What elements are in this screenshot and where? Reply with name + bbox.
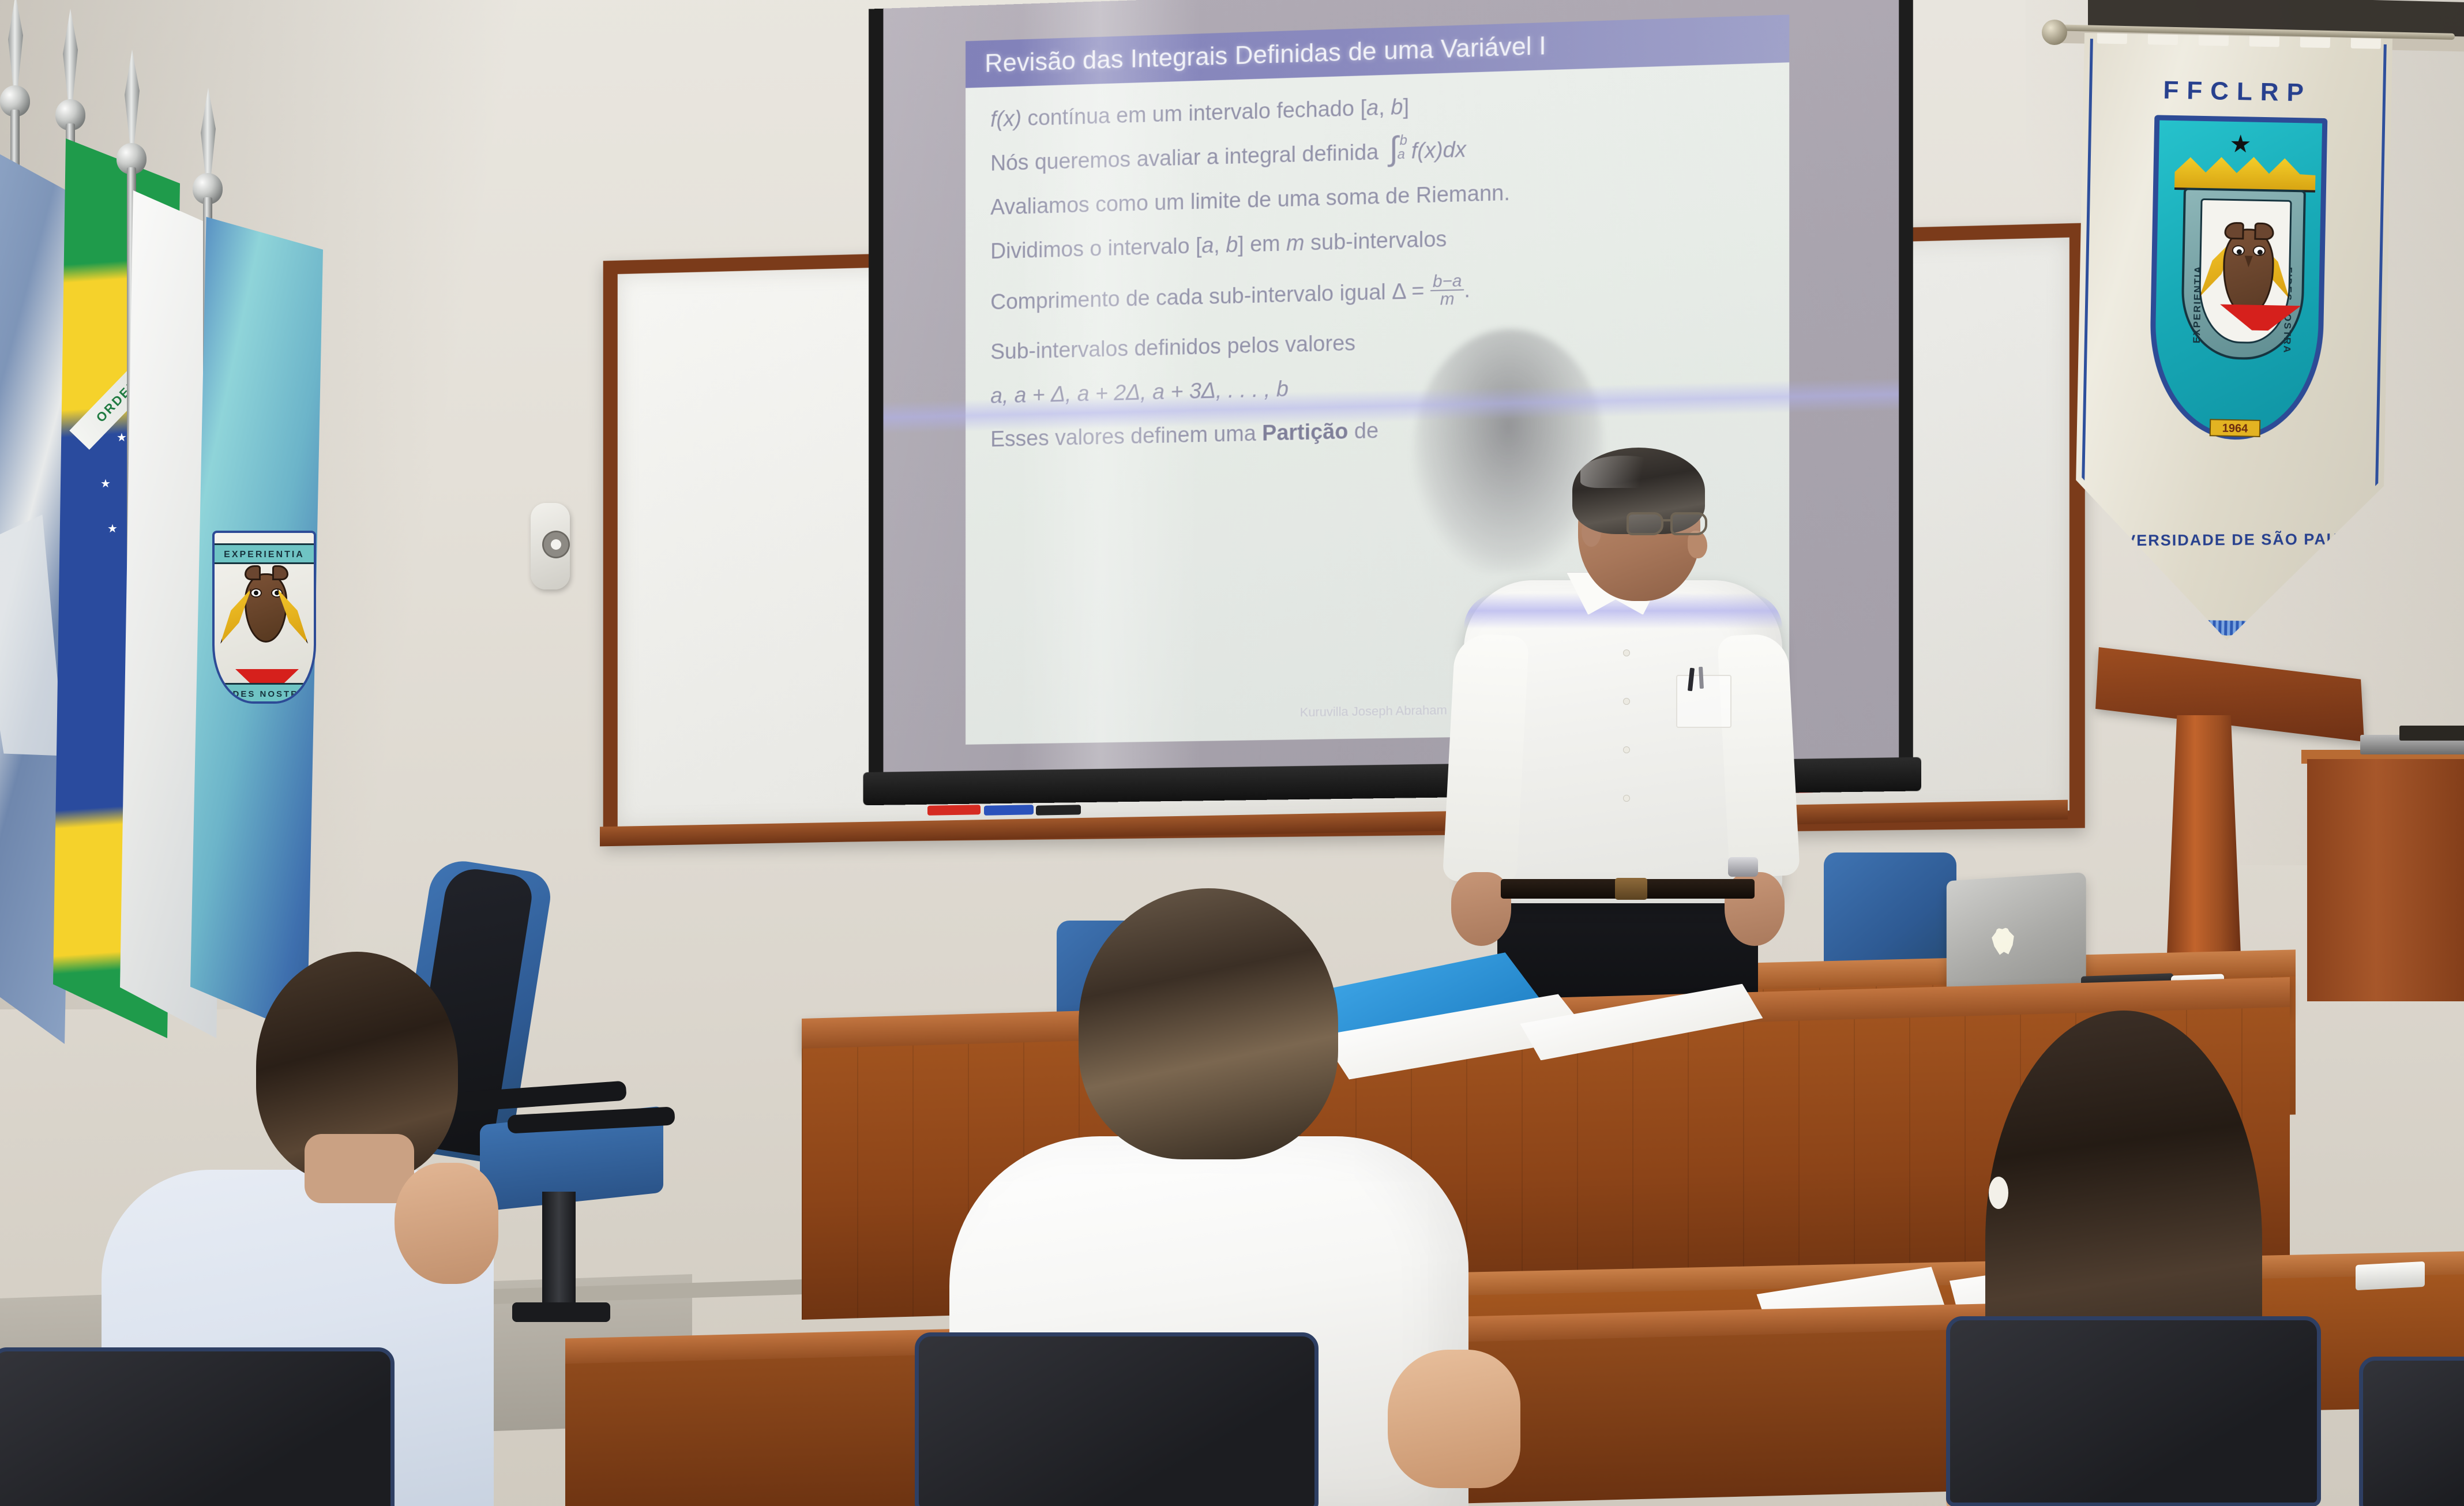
student-left-hand — [395, 1163, 498, 1284]
office-chair-base — [512, 1302, 610, 1322]
chair-front-center[interactable] — [915, 1332, 1319, 1506]
spear-finial-icon-3 — [125, 50, 140, 148]
slide-l4-e: ] em — [1238, 232, 1286, 257]
lecture-hall-scene: ORDEM E PROGRESSO ★ ★ ★ ★ ★ ★ ★ — [0, 0, 2464, 1506]
spear-finial-icon-2 — [63, 9, 78, 107]
crest-shield: EXPERIENTIA FIDES NOSTRA — [2180, 187, 2306, 360]
slide-line-6: Sub-intervalos definidos pelos valores — [990, 322, 1769, 363]
spear-finial-icon — [8, 0, 23, 92]
slide-l4-d: b — [1226, 233, 1238, 257]
belt-buckle-icon — [1615, 878, 1647, 900]
slide-title: Revisão das Integrais Definidas de uma V… — [966, 32, 1546, 79]
slide-l5-b: . — [1464, 278, 1470, 302]
slide-l1-text: contínua em um intervalo fechado [ — [1021, 96, 1366, 131]
shirt-button — [1623, 698, 1630, 705]
owl-eye-left — [2232, 245, 2245, 256]
flag-motto-right: FIDES NOSTRA — [215, 683, 314, 704]
slide-line-3: Avaliamos como um limite de uma soma de … — [990, 175, 1769, 219]
slide-l1-close: ] — [1403, 95, 1409, 119]
chair-front-right[interactable] — [1946, 1316, 2321, 1506]
crest-year-badge: 1964 — [2210, 419, 2261, 437]
slide-l1-a: a — [1366, 96, 1379, 121]
presenter-arm-right — [1717, 633, 1800, 878]
flag-owl-emblem: EXPERIENTIA FIDES NOSTRA — [212, 531, 316, 704]
slide-l4-f: m — [1286, 231, 1304, 256]
owl-ear-right — [2254, 223, 2274, 241]
eyeglass-bridge — [1662, 519, 1673, 521]
presenter-hair-highlight — [1580, 456, 1667, 488]
chair-front-left[interactable] — [0, 1347, 395, 1506]
crest-shield-inner — [2198, 198, 2292, 344]
slide-l8-partition: Partição — [1262, 420, 1348, 446]
office-chair-post — [542, 1192, 576, 1313]
slide-l2-text: Nós queremos avaliar a integral definida — [990, 140, 1385, 176]
cabinet-device-2 — [2399, 726, 2464, 741]
chair-far-right[interactable] — [2359, 1357, 2464, 1506]
screen-border-left — [869, 9, 883, 784]
integral-lower-limit: a — [1398, 147, 1405, 161]
owl-beak — [2244, 256, 2252, 267]
integral-icon: ∫ba — [1385, 141, 1411, 164]
slide-line-7: a, a + Δ, a + 2Δ, a + 3Δ, . . . , b — [990, 367, 1769, 408]
slide-line-5: Comprimento de cada sub-intervalo igual … — [990, 264, 1769, 320]
eyeglass-lens-right — [1670, 512, 1707, 535]
slide-line-2: Nós queremos avaliar a integral definida… — [990, 130, 1769, 175]
eyeglass-lens-left — [1627, 512, 1663, 535]
student-left-neck — [305, 1134, 414, 1203]
student-center-hair — [1079, 888, 1338, 1159]
banner-rod-finial-icon — [2042, 20, 2067, 45]
black-marker-icon[interactable] — [1036, 805, 1081, 815]
slide-l5-a: Comprimento de cada sub-intervalo igual … — [990, 279, 1430, 315]
fraction-delta: b−am — [1430, 272, 1464, 309]
star-icon — [2230, 134, 2251, 155]
slide-line-1: f(x) contínua em um intervalo fechado [a… — [990, 85, 1769, 132]
student-right-earbud-icon — [1989, 1177, 2008, 1209]
presenter-arm-left — [1443, 633, 1529, 884]
owl-pupil-right — [2258, 250, 2263, 255]
flag-motto-left: EXPERIENTIA — [215, 543, 314, 564]
side-cabinet — [2307, 759, 2464, 1001]
owl-ear-left — [2224, 222, 2244, 240]
slide-l1-fx: f(x) — [990, 107, 1021, 132]
slide-l4-b: a — [1201, 234, 1214, 258]
fraction-denominator: m — [1430, 291, 1464, 309]
student-center-arm — [1388, 1350, 1520, 1488]
slide-l4-a: Dividimos o intervalo [ — [990, 234, 1201, 264]
owl-pupil-left — [2237, 249, 2242, 254]
wristwatch-icon — [1728, 857, 1758, 877]
slide-l4-c: , — [1214, 233, 1226, 257]
eyeglasses-icon — [1627, 512, 1707, 539]
screen-border-right — [1899, 0, 1913, 769]
owl-eye-right — [2253, 246, 2266, 256]
shirt-button — [1623, 795, 1630, 802]
slide-l4-g: sub-intervalos — [1305, 227, 1447, 256]
motion-sensor-lens-icon — [542, 531, 570, 558]
red-marker-icon[interactable] — [927, 805, 981, 816]
slide-body: f(x) contínua em um intervalo fechado [a… — [990, 85, 1769, 473]
shirt-button — [1623, 649, 1630, 656]
usp-crest: EXPERIENTIA FIDES NOSTRA — [2149, 115, 2328, 441]
crown-icon — [2174, 154, 2316, 193]
owl-icon — [2222, 228, 2275, 316]
slide-l2-fxdx: f(x)dx — [1411, 138, 1466, 164]
slide-l8-c: de — [1348, 419, 1379, 444]
integral-upper-limit: b — [1400, 133, 1407, 147]
slide-line-4: Dividimos o intervalo [a, b] em m sub-in… — [990, 220, 1769, 263]
slide-l1-comma: , — [1379, 96, 1391, 121]
eraser-icon[interactable] — [2356, 1261, 2425, 1290]
slide-l1-b: b — [1391, 95, 1403, 120]
banner-title: FFCLRP — [2083, 74, 2392, 109]
fraction-numerator: b−a — [1430, 272, 1464, 291]
lectern-column — [2166, 715, 2241, 969]
spear-finial-icon-4 — [201, 88, 216, 186]
slide-l8-a: Esses valores definem uma — [990, 422, 1262, 452]
blue-marker-icon[interactable] — [984, 805, 1034, 816]
slide-title-bar: Revisão das Integrais Definidas de uma V… — [966, 14, 1789, 88]
shirt-button — [1623, 746, 1630, 753]
shirt-pocket — [1676, 675, 1731, 728]
